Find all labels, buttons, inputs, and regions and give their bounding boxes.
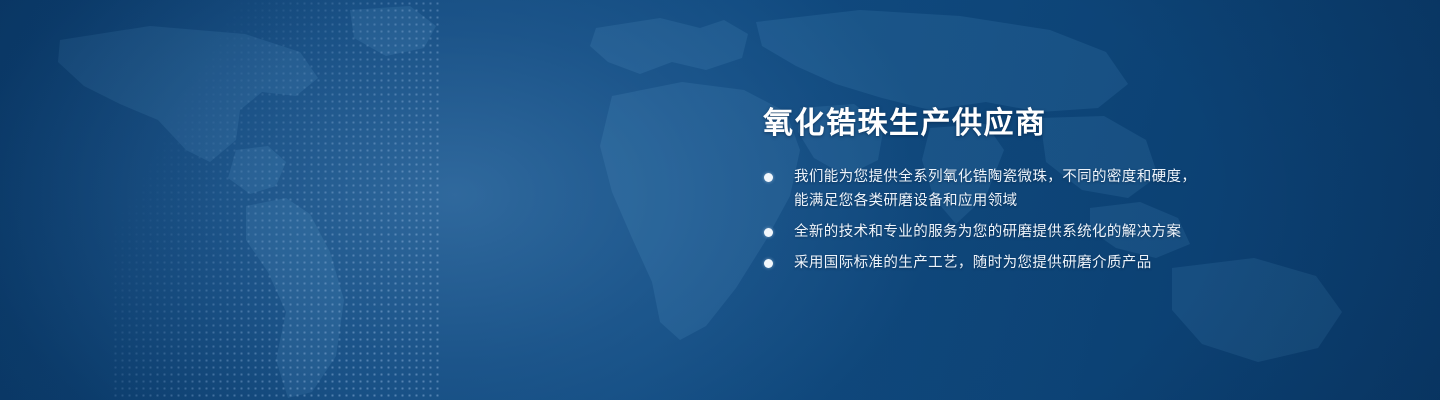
bullet-dot-icon <box>764 228 773 237</box>
list-item: 我们能为您提供全系列氧化锆陶瓷微珠，不同的密度和硬度， 能满足您各类研磨设备和应… <box>763 165 1233 213</box>
page-title: 氧化锆珠生产供应商 <box>763 104 1233 144</box>
list-item: 采用国际标准的生产工艺，随时为您提供研磨介质产品 <box>763 251 1233 275</box>
bullet-dot-icon <box>764 173 773 182</box>
bullet-dot-icon <box>764 259 773 268</box>
list-item: 全新的技术和专业的服务为您的研磨提供系统化的解决方案 <box>763 220 1233 244</box>
banner-copy: 氧化锆珠生产供应商 我们能为您提供全系列氧化锆陶瓷微珠，不同的密度和硬度， 能满… <box>763 104 1233 275</box>
list-item-line: 全新的技术和专业的服务为您的研磨提供系统化的解决方案 <box>794 220 1233 244</box>
zirconia-beads-image <box>118 0 738 400</box>
hero-banner: 氧化锆珠生产供应商 我们能为您提供全系列氧化锆陶瓷微珠，不同的密度和硬度， 能满… <box>0 0 1440 400</box>
feature-list: 我们能为您提供全系列氧化锆陶瓷微珠，不同的密度和硬度， 能满足您各类研磨设备和应… <box>763 165 1233 275</box>
list-item-line: 我们能为您提供全系列氧化锆陶瓷微珠，不同的密度和硬度， <box>794 165 1233 189</box>
list-item-line: 能满足您各类研磨设备和应用领域 <box>794 189 1233 213</box>
list-item-line: 采用国际标准的生产工艺，随时为您提供研磨介质产品 <box>794 251 1233 275</box>
